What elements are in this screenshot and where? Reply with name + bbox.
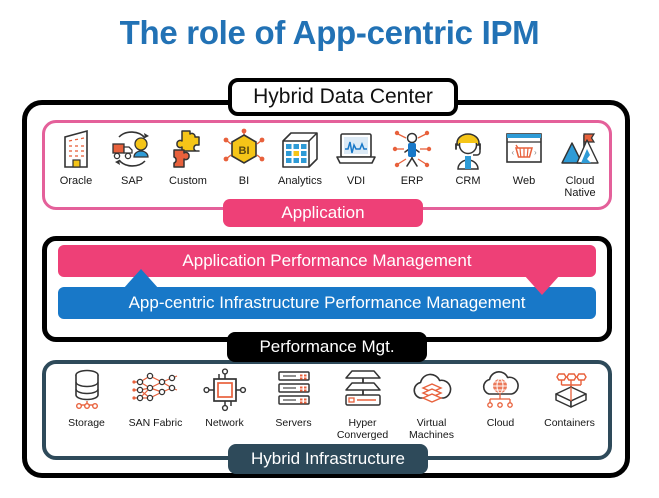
app-item-crm[interactable]: CRM: [440, 126, 496, 187]
application-icon-row: Oracle SAP: [48, 126, 608, 199]
browser-cart-icon: ‹ ›: [503, 126, 545, 172]
app-item-sap[interactable]: SAP: [104, 126, 160, 187]
puzzle-pieces-icon: [168, 126, 208, 172]
infra-item-label: Servers: [275, 417, 311, 429]
infra-item-label: Network: [205, 417, 244, 429]
cloud-globe-icon: [477, 366, 525, 414]
app-item-cloud-native[interactable]: Cloud Native: [552, 126, 608, 199]
infra-item-cloud[interactable]: Cloud: [466, 366, 535, 429]
infra-item-containers[interactable]: Containers: [535, 366, 604, 429]
infra-item-label: Cloud: [487, 417, 514, 429]
hyperconverged-stack-icon: [340, 366, 386, 414]
app-item-label: Cloud Native: [552, 175, 608, 199]
app-item-label: ERP: [401, 175, 424, 187]
hybrid-data-center-badge: Hybrid Data Center: [228, 78, 458, 116]
infrastructure-icon-row: Storage: [52, 366, 604, 441]
app-item-label: Web: [513, 175, 535, 187]
infra-item-label: SAN Fabric: [129, 417, 183, 429]
fabric-mesh-icon: [132, 366, 180, 414]
diagram-canvas: The role of App-centric IPM Oracle: [0, 0, 659, 498]
cloud-layers-icon: [408, 366, 456, 414]
headset-agent-icon: [448, 126, 488, 172]
svg-text:›: ›: [534, 148, 537, 157]
building-icon: [59, 126, 93, 172]
app-item-erp[interactable]: ERP: [384, 126, 440, 187]
server-rack-icon: [274, 366, 314, 414]
app-item-analytics[interactable]: Analytics: [272, 126, 328, 187]
app-item-label: Oracle: [60, 175, 92, 187]
truck-person-cycle-icon: [109, 126, 155, 172]
app-item-bi[interactable]: BI BI: [216, 126, 272, 187]
infra-item-label: Hyper Converged: [337, 417, 388, 441]
chip-icon: [203, 366, 247, 414]
mountain-flag-icon: [557, 126, 603, 172]
svg-text:BI: BI: [239, 145, 250, 157]
apm-down-arrow: [524, 275, 560, 295]
infra-item-label: Storage: [68, 417, 105, 429]
performance-mgt-badge: Performance Mgt.: [227, 332, 427, 362]
app-item-label: CRM: [455, 175, 480, 187]
infra-item-label: Containers: [544, 417, 595, 429]
person-network-icon: [390, 126, 434, 172]
infra-item-servers[interactable]: Servers: [259, 366, 328, 429]
page-title: The role of App-centric IPM: [0, 14, 659, 52]
app-item-label: VDI: [347, 175, 365, 187]
svg-text:‹: ‹: [512, 148, 515, 157]
app-item-label: SAP: [121, 175, 143, 187]
infra-item-virtual-machines[interactable]: Virtual Machines: [397, 366, 466, 441]
app-item-label: BI: [239, 175, 249, 187]
ipm-bar[interactable]: App-centric Infrastructure Performance M…: [58, 287, 596, 319]
laptop-chart-icon: [334, 126, 378, 172]
app-item-web[interactable]: ‹ › Web: [496, 126, 552, 187]
data-grid-icon: [279, 126, 321, 172]
app-item-custom[interactable]: Custom: [160, 126, 216, 187]
container-box-icon: [546, 366, 594, 414]
infra-item-label: Virtual Machines: [409, 417, 454, 441]
infra-item-san-fabric[interactable]: SAN Fabric: [121, 366, 190, 429]
app-item-label: Analytics: [278, 175, 322, 187]
ipm-up-arrow: [123, 269, 159, 289]
infra-item-network[interactable]: Network: [190, 366, 259, 429]
infra-item-storage[interactable]: Storage: [52, 366, 121, 429]
bi-hexagon-icon: BI: [222, 126, 266, 172]
app-item-vdi[interactable]: VDI: [328, 126, 384, 187]
database-cylinder-icon: [68, 366, 106, 414]
infra-item-hyper-converged[interactable]: Hyper Converged: [328, 366, 397, 441]
app-item-label: Custom: [169, 175, 207, 187]
app-item-oracle[interactable]: Oracle: [48, 126, 104, 187]
application-banner: Application: [223, 199, 423, 227]
hybrid-infrastructure-badge: Hybrid Infrastructure: [228, 444, 428, 474]
